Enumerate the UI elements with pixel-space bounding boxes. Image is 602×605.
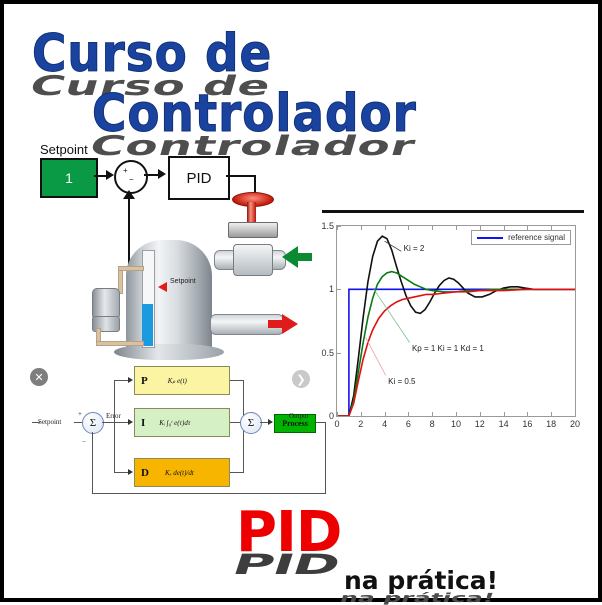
poster-root: Curso de Curso de Controlador Controlado… (0, 0, 602, 602)
valve-stem (247, 202, 256, 224)
chart-ytick-label: 0.5 (321, 348, 334, 358)
legend-label-reference: reference signal (508, 233, 565, 242)
chart-xtick-label: 14 (499, 419, 509, 429)
chart-xtick-label: 18 (546, 419, 556, 429)
block-i-formula: Kᵢ ∫₀ᵗ e(τ)dτ (159, 419, 190, 427)
arrow-to-sum (106, 170, 114, 180)
inlet-flow-arrow (282, 246, 298, 268)
bd-output-label: Output (289, 412, 308, 420)
chart-ytick-mark (337, 226, 341, 227)
block-p-formula: Kₚ e(t) (168, 377, 187, 385)
tank-setpoint-label: Setpoint (170, 278, 196, 285)
chart-legend: reference signal (471, 230, 571, 245)
chart-ytick-mark (337, 353, 341, 354)
chart-xtick-label: 16 (522, 419, 532, 429)
sum-plus-sign: + (123, 166, 128, 175)
chevron-right-icon[interactable]: ❯ (292, 370, 310, 388)
poster-title: Curso de Curso de Controlador Controlado… (4, 18, 598, 128)
title-line1: Curso de (32, 24, 272, 84)
chart-xtick-mark (527, 412, 528, 416)
tank-setpoint-arrow-icon (158, 282, 167, 292)
step-response-chart: reference signal 0246810121416182000.511… (322, 210, 584, 445)
bd-line-feedback-down (325, 422, 326, 494)
chart-annotation-leader (385, 241, 402, 251)
chart-xtick-label: 6 (406, 419, 411, 429)
chart-xtick-mark (575, 412, 576, 416)
bd-arrow-p (128, 377, 133, 383)
chart-ytick-label: 1 (329, 284, 334, 294)
chart-annotation: Ki = 2 (404, 244, 425, 253)
chart-xtick-mark-top (527, 226, 528, 230)
chart-annotation-leader (366, 337, 386, 375)
setpoint-block: 1 (40, 158, 98, 198)
chart-xtick-mark-top (480, 226, 481, 230)
chart-xtick-label: 0 (334, 419, 339, 429)
bd-summing-junction-1: Σ (82, 412, 104, 434)
pid-controller-label: PID (186, 170, 211, 187)
chart-xtick-mark-top (432, 226, 433, 230)
chart-xtick-mark-top (408, 226, 409, 230)
footer-tagline: na prática! (344, 566, 498, 595)
arrow-feedback (123, 190, 135, 199)
chart-xtick-mark (504, 412, 505, 416)
bd-line-d-out (230, 472, 244, 473)
block-derivative: D Kₔ de(t)/dt (134, 458, 230, 487)
level-gauge-fill (142, 304, 153, 346)
chart-xtick-mark-top (456, 226, 457, 230)
bd-minus-sign: − (82, 438, 86, 446)
chart-xtick-mark-top (551, 226, 552, 230)
block-i-letter: I (141, 417, 145, 429)
chart-xtick-label: 8 (430, 419, 435, 429)
bd-arrow-i (128, 419, 133, 425)
bd-line-feedback-back (92, 493, 326, 494)
block-proportional: P Kₚ e(t) (134, 366, 230, 395)
chart-xtick-mark-top (385, 226, 386, 230)
chart-annotation: Kp = 1 Ki = 1 Kd = 1 (412, 344, 484, 353)
tank-base (114, 344, 224, 360)
chart-xtick-mark (551, 412, 552, 416)
process-tank (126, 240, 212, 356)
pid-controller-block: PID (168, 156, 230, 200)
process-control-diagram: Setpoint 1 + − PID (18, 138, 314, 358)
block-d-formula: Kₔ de(t)/dt (165, 469, 194, 477)
chart-annotation: Ki = 0.5 (388, 377, 415, 386)
chart-xtick-mark (385, 412, 386, 416)
valve-body (233, 244, 273, 276)
close-icon[interactable]: ✕ (30, 368, 48, 386)
chart-ytick-label: 0 (329, 411, 334, 421)
chart-xtick-label: 20 (570, 419, 580, 429)
valve-positioner (228, 222, 278, 238)
bd-line-error-split (114, 380, 115, 472)
bd-line-p-out (230, 380, 244, 381)
chart-xtick-mark-top (575, 226, 576, 230)
chart-xtick-label: 10 (451, 419, 461, 429)
chart-xtick-mark-top (361, 226, 362, 230)
chart-xtick-mark (361, 412, 362, 416)
sum-minus-sign: − (129, 175, 134, 184)
setpoint-value: 1 (65, 170, 73, 186)
bd-line-feedback-up (92, 432, 93, 494)
block-d-letter: D (141, 467, 149, 479)
pid-block-diagram: ✕ ❯ Setpoint + − Σ Error P Kₚ e(t) I Kᵢ … (26, 360, 318, 500)
arrow-to-pid (158, 169, 166, 179)
chart-xtick-mark (480, 412, 481, 416)
line-pid-out (226, 175, 256, 177)
chart-xtick-mark-top (504, 226, 505, 230)
chart-xtick-label: 2 (358, 419, 363, 429)
bd-plus-sign: + (78, 410, 82, 418)
footer-pid: PID (236, 500, 341, 565)
setpoint-label: Setpoint (40, 142, 88, 157)
bd-arrow-d (128, 469, 133, 475)
bd-setpoint-label: Setpoint (38, 418, 61, 426)
block-integral: I Kᵢ ∫₀ᵗ e(τ)dτ (134, 408, 230, 437)
chart-xtick-mark (456, 412, 457, 416)
bd-arrow-process (268, 419, 273, 425)
bd-line-error (102, 422, 130, 423)
chart-annotation-leader (374, 289, 410, 342)
chart-xtick-label: 4 (382, 419, 387, 429)
chart-xtick-mark (408, 412, 409, 416)
impulse-line-upper-horizontal (118, 266, 144, 271)
chart-ytick-mark (337, 289, 341, 290)
bd-line-input (32, 422, 40, 423)
outlet-flow-arrow (282, 314, 298, 334)
bd-summing-junction-2: Σ (240, 412, 262, 434)
chart-ytick-mark (337, 416, 341, 417)
chart-series-ki-2 (337, 236, 575, 416)
block-p-letter: P (141, 375, 148, 387)
chart-ytick-label: 1.5 (321, 221, 334, 231)
impulse-line-lower-horizontal (96, 341, 144, 346)
summing-junction: + − (114, 160, 148, 194)
chart-xtick-label: 12 (475, 419, 485, 429)
chart-xtick-mark (432, 412, 433, 416)
chart-plot-area: reference signal 0246810121416182000.511… (336, 225, 576, 417)
bd-line-to-sum1 (74, 422, 82, 423)
inlet-arrow-tail (298, 253, 312, 261)
legend-swatch-reference (477, 237, 503, 239)
chart-curves (337, 226, 575, 416)
title-line2: Controlador (92, 84, 417, 144)
